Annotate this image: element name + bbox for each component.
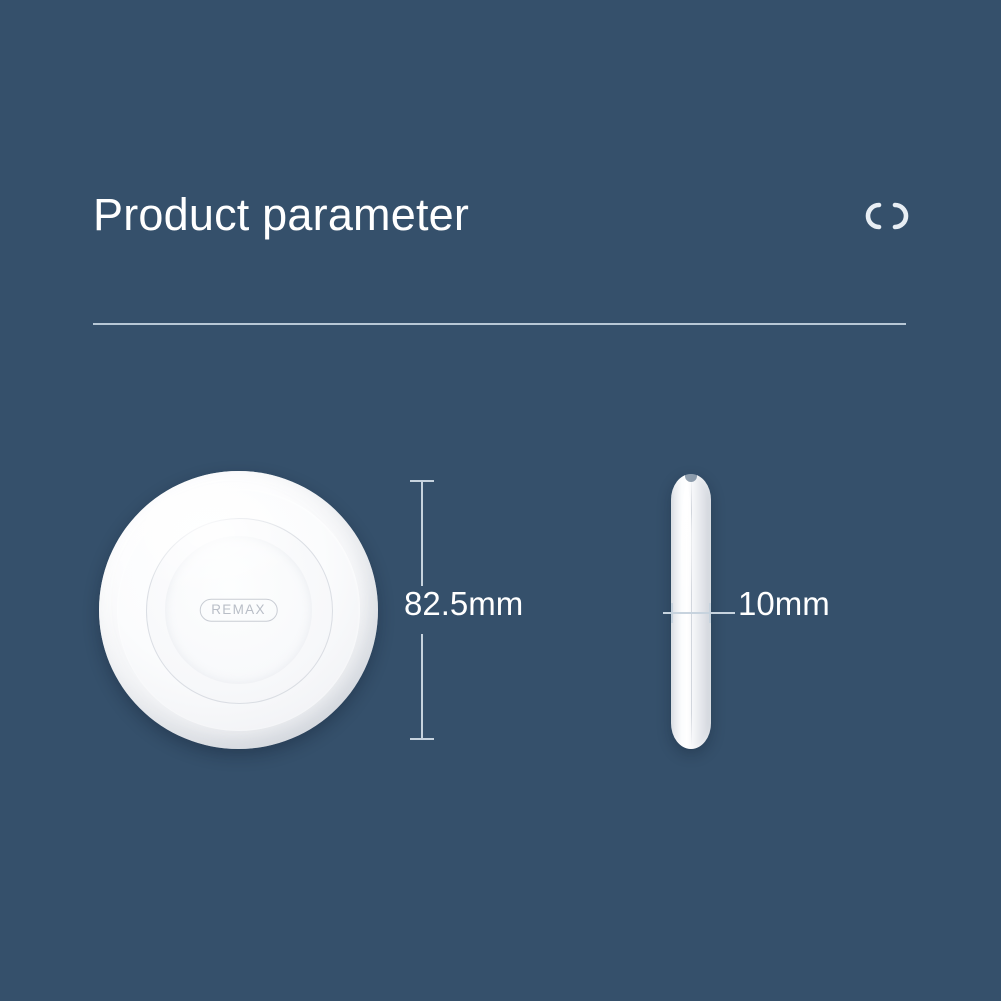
dimension-tick-left xyxy=(671,603,673,623)
dimension-cap-bottom xyxy=(410,738,434,740)
page-title: Product parameter xyxy=(93,190,469,240)
infinity-loops-icon xyxy=(859,196,915,236)
product-top-view: REMAX xyxy=(99,471,378,749)
dimension-tick-right xyxy=(709,603,711,623)
dimension-stem-bottom xyxy=(421,634,423,739)
dimension-line-thickness xyxy=(660,600,738,626)
product-parameter-slide: Product parameter REMAX 82.5mm xyxy=(0,0,1001,1001)
dimension-label-thickness: 10mm xyxy=(738,587,830,620)
remax-brand-logo: REMAX xyxy=(199,599,278,622)
dimension-label-height: 82.5mm xyxy=(404,587,523,620)
dimension-rule xyxy=(663,612,735,614)
dimension-stem-top xyxy=(421,481,423,586)
header-divider xyxy=(93,323,906,325)
